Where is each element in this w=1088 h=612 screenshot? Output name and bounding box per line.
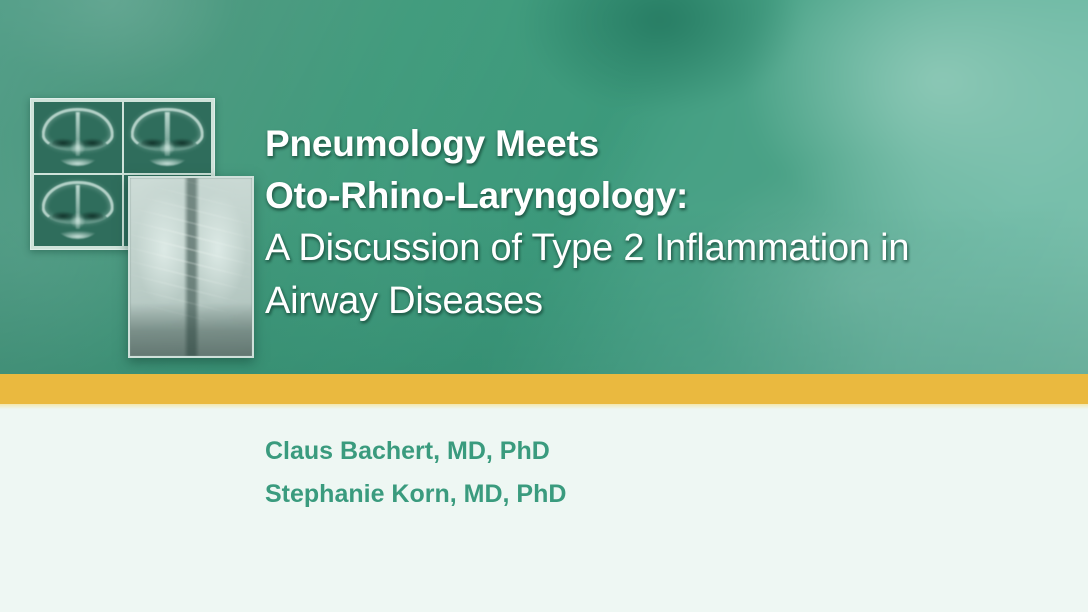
sinus-ct-scan-icon bbox=[34, 175, 122, 246]
title-line-3: A Discussion of Type 2 Inflammation in bbox=[265, 222, 1055, 275]
ct-midline bbox=[76, 185, 80, 229]
presenter-name: Stephanie Korn, MD, PhD bbox=[265, 473, 566, 516]
title-line-1: Pneumology Meets bbox=[265, 118, 1055, 170]
presenter-name: Claus Bachert, MD, PhD bbox=[265, 430, 566, 473]
title-slide: Pneumology Meets Oto-Rhino-Laryngology: … bbox=[0, 0, 1088, 612]
ct-midline bbox=[165, 112, 169, 156]
sinus-ct-scan-icon bbox=[34, 102, 122, 173]
gold-divider-band bbox=[0, 374, 1088, 404]
hero-banner: Pneumology Meets Oto-Rhino-Laryngology: … bbox=[0, 0, 1088, 374]
medical-imaging-collage bbox=[30, 98, 250, 360]
presenter-panel: Claus Bachert, MD, PhD Stephanie Korn, M… bbox=[0, 409, 1088, 612]
ct-midline bbox=[76, 112, 80, 156]
sinus-ct-scan-icon bbox=[124, 102, 212, 173]
chest-xray-image bbox=[128, 176, 254, 358]
xray-ribs-icon bbox=[130, 178, 252, 356]
title-line-2: Oto-Rhino-Laryngology: bbox=[265, 170, 1055, 222]
page-title: Pneumology Meets Oto-Rhino-Laryngology: … bbox=[265, 118, 1055, 328]
presenter-list: Claus Bachert, MD, PhD Stephanie Korn, M… bbox=[265, 430, 566, 516]
title-line-4: Airway Diseases bbox=[265, 275, 1055, 328]
